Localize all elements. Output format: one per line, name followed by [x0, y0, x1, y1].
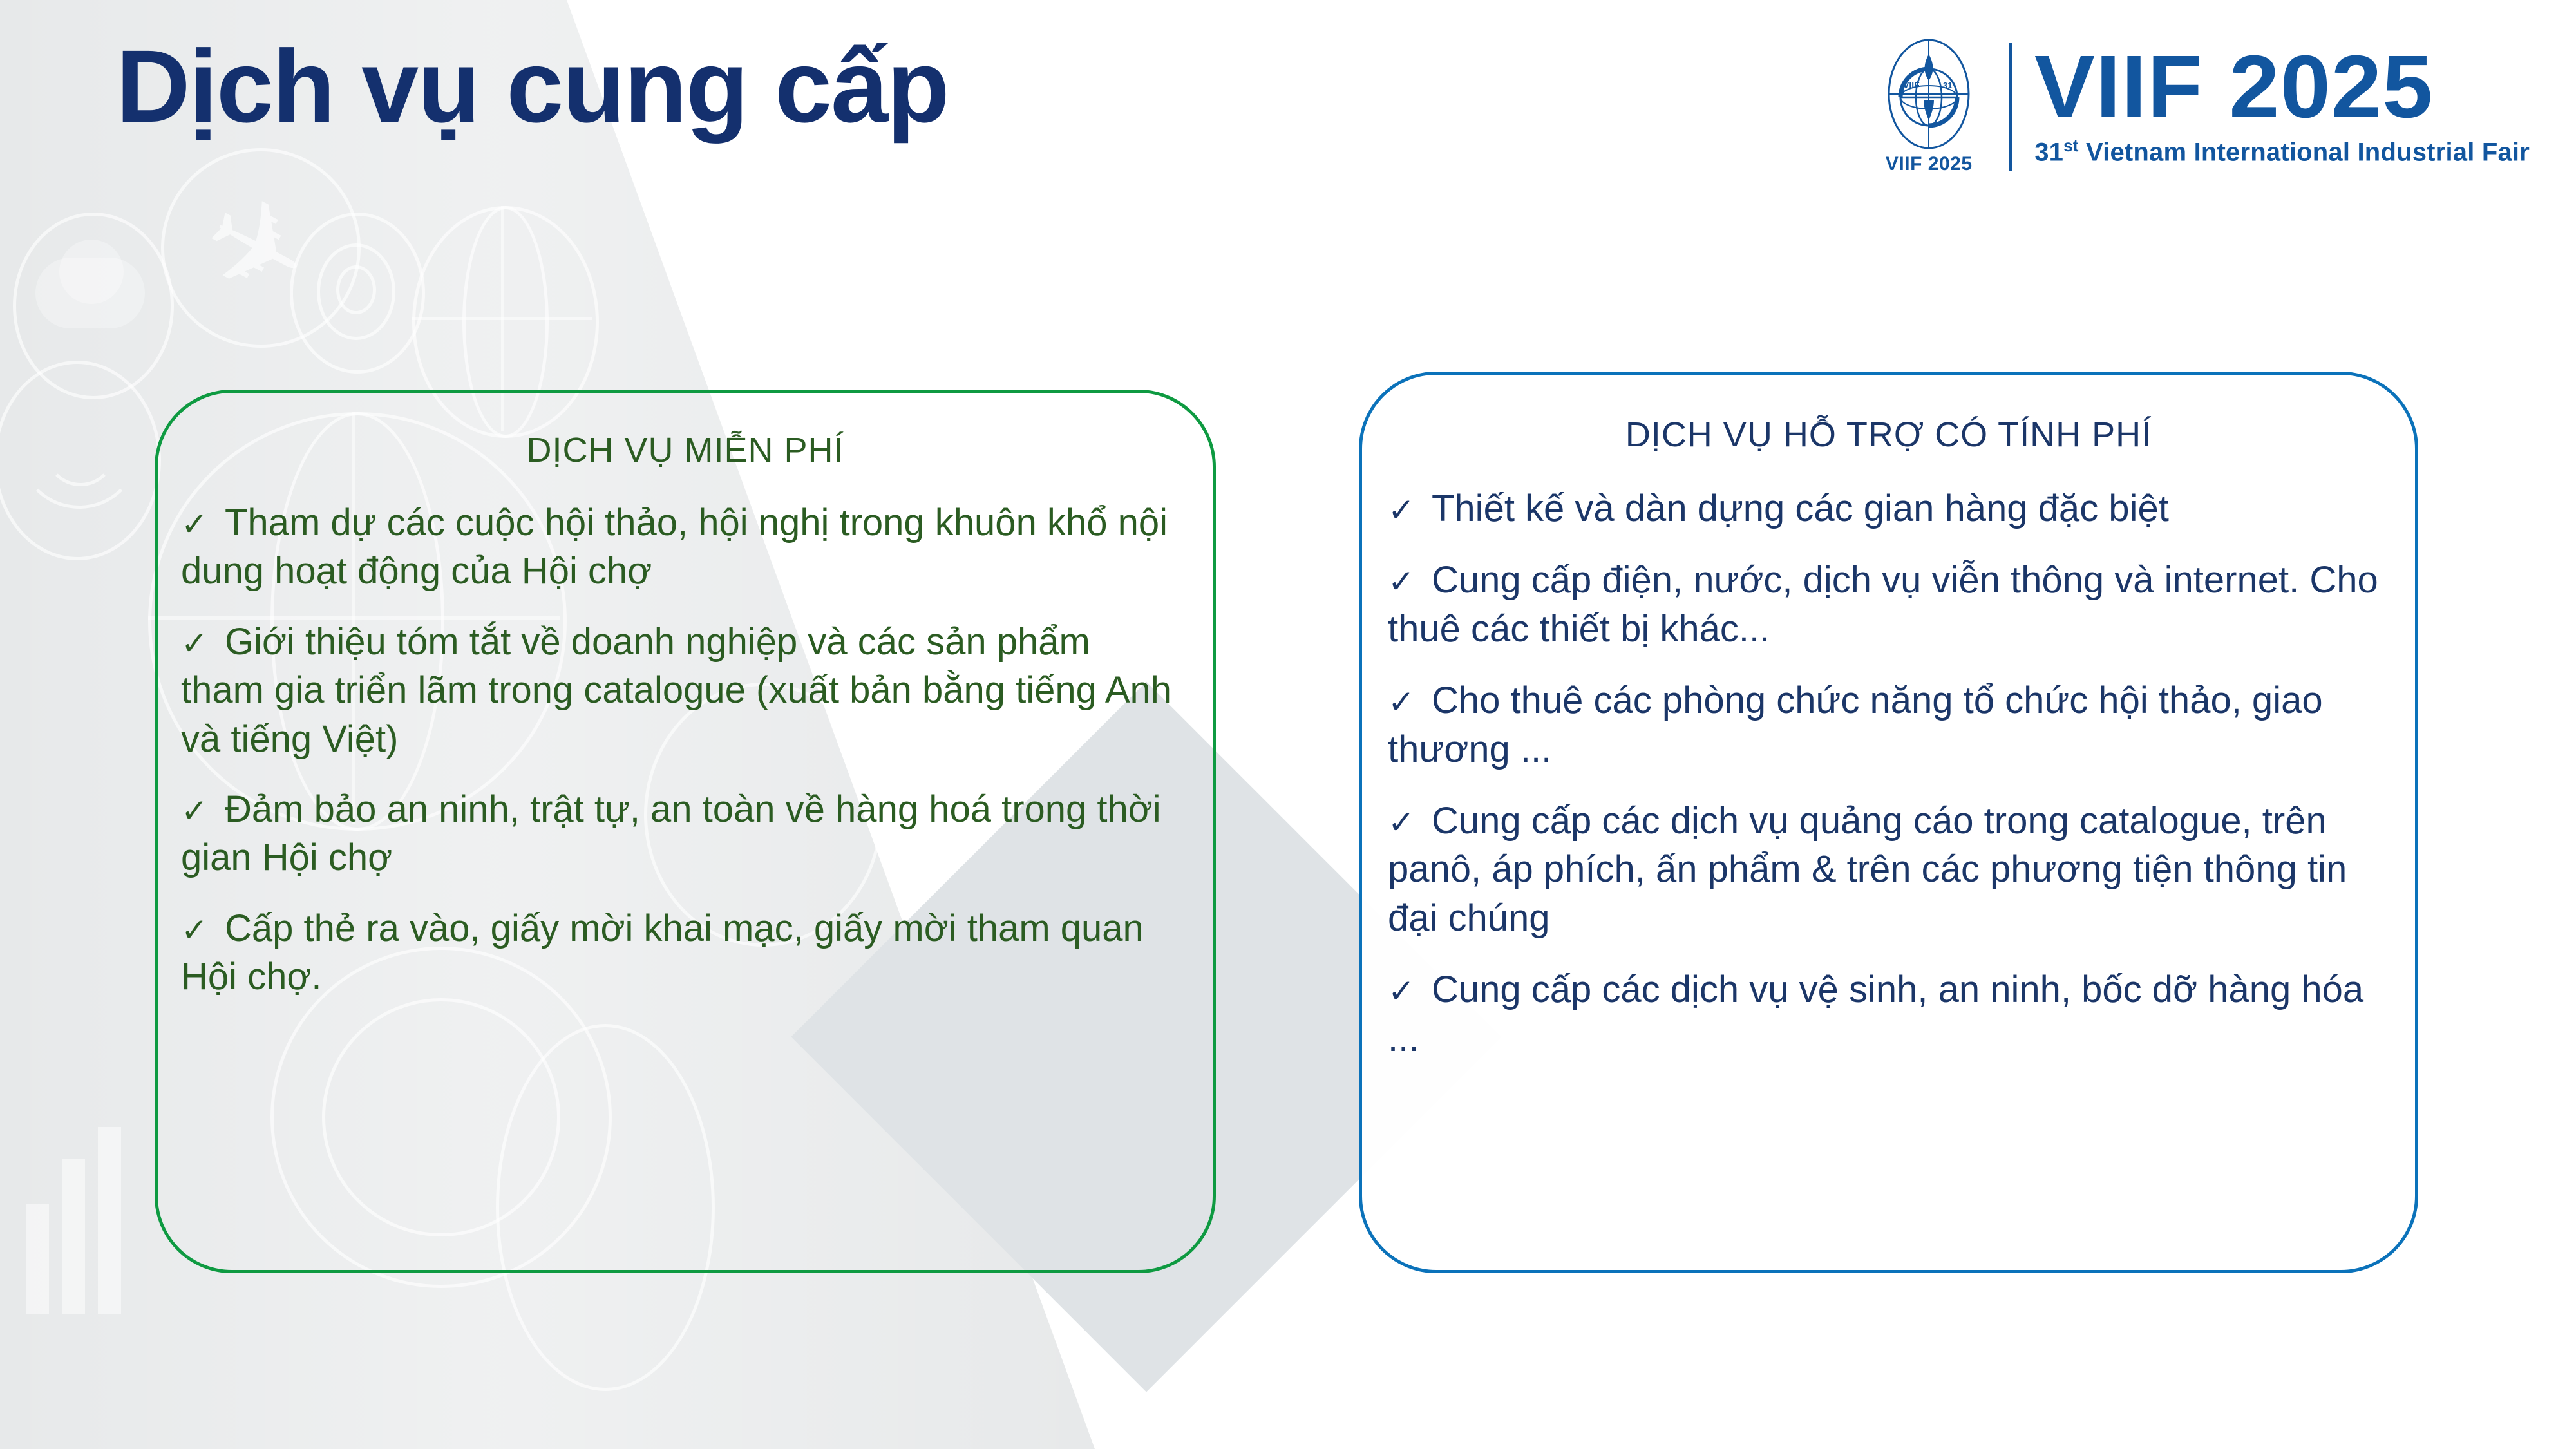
logo-ordinal-suffix: st — [2063, 136, 2079, 155]
check-icon: ✓ — [1388, 561, 1432, 603]
list-item: ✓Tham dự các cuộc hội thảo, hội nghị tro… — [181, 498, 1183, 596]
check-icon: ✓ — [1388, 681, 1432, 723]
check-icon: ✓ — [1388, 802, 1432, 844]
free-services-card-title: DỊCH VỤ MIỄN PHÍ — [158, 430, 1213, 470]
check-icon: ✓ — [181, 909, 225, 951]
list-item-text: Giới thiệu tóm tắt về doanh nghiệp và cá… — [181, 621, 1171, 760]
list-item: ✓Cung cấp điện, nước, dịch vụ viễn thông… — [1388, 556, 2385, 653]
list-item: ✓Giới thiệu tóm tắt về doanh nghiệp và c… — [181, 618, 1183, 763]
logo-wordmark: VIIF 2025 31st Vietnam International Ind… — [2034, 46, 2530, 167]
paid-services-card: DỊCH VỤ HỖ TRỢ CÓ TÍNH PHÍ ✓Thiết kế và … — [1359, 372, 2418, 1273]
list-item-text: Cung cấp các dịch vụ vệ sinh, an ninh, b… — [1388, 969, 2363, 1059]
watermark-bar-chart-2 — [62, 1159, 85, 1314]
check-icon: ✓ — [1388, 971, 1432, 1012]
list-item-text: Thiết kế và dàn dựng các gian hàng đặc b… — [1432, 488, 2169, 529]
list-item-text: Tham dự các cuộc hội thảo, hội nghị tron… — [181, 502, 1168, 592]
check-icon: ✓ — [1388, 489, 1432, 531]
page-title: Dịch vụ cung cấp — [116, 32, 949, 140]
logo-ordinal: 31 — [2034, 138, 2063, 166]
logo-subtitle-rest: Vietnam International Industrial Fair — [2079, 138, 2530, 166]
list-item: ✓Cấp thẻ ra vào, giấy mời khai mạc, giấy… — [181, 904, 1183, 1001]
free-services-list: ✓Tham dự các cuộc hội thảo, hội nghị tro… — [181, 498, 1183, 1001]
paid-services-card-title: DỊCH VỤ HỖ TRỢ CÓ TÍNH PHÍ — [1362, 415, 2415, 455]
free-services-card: DỊCH VỤ MIỄN PHÍ ✓Tham dự các cuộc hội t… — [155, 390, 1216, 1273]
watermark-bar-chart-1 — [26, 1204, 49, 1314]
check-icon: ✓ — [181, 623, 225, 665]
watermark-spiral-core — [336, 265, 376, 314]
logo-emblem-caption: VIIF 2025 — [1886, 153, 1973, 175]
list-item: ✓Cho thuê các phòng chức năng tổ chức hộ… — [1388, 676, 2385, 773]
globe-gear-emblem-icon: VIIF 31 — [1884, 38, 1974, 151]
svg-text:31: 31 — [1943, 80, 1952, 90]
wifi-arc-inner — [45, 415, 116, 486]
list-item: ✓Đảm bảo an ninh, trật tự, an toàn về hà… — [181, 785, 1183, 882]
list-item: ✓Cung cấp các dịch vụ vệ sinh, an ninh, … — [1388, 965, 2385, 1063]
cloud-icon-bump — [59, 240, 124, 304]
svg-text:VIIF: VIIF — [1903, 80, 1920, 90]
check-icon: ✓ — [181, 790, 225, 832]
watermark-bar-chart-3 — [98, 1127, 121, 1314]
list-item: ✓Thiết kế và dàn dựng các gian hàng đặc … — [1388, 484, 2385, 533]
list-item-text: Đảm bảo an ninh, trật tự, an toàn về hàn… — [181, 788, 1161, 878]
list-item-text: Cung cấp các dịch vụ quảng cáo trong cat… — [1388, 800, 2347, 939]
list-item-text: Cho thuê các phòng chức năng tổ chức hội… — [1388, 679, 2323, 770]
viif-logo: VIIF 31 VIIF 2025 VIIF 2025 31st Vietnam… — [1871, 31, 2530, 182]
logo-subtitle: 31st Vietnam International Industrial Fa… — [2034, 136, 2530, 167]
list-item: ✓Cung cấp các dịch vụ quảng cáo trong ca… — [1388, 797, 2385, 942]
check-icon: ✓ — [181, 504, 225, 545]
logo-main-text: VIIF 2025 — [2034, 46, 2539, 128]
logo-divider — [2009, 43, 2012, 171]
list-item-text: Cung cấp điện, nước, dịch vụ viễn thông … — [1388, 559, 2378, 649]
list-item-text: Cấp thẻ ra vào, giấy mời khai mạc, giấy … — [181, 907, 1144, 998]
logo-emblem: VIIF 31 VIIF 2025 — [1871, 38, 1987, 175]
paid-services-list: ✓Thiết kế và dàn dựng các gian hàng đặc … — [1388, 484, 2385, 1063]
